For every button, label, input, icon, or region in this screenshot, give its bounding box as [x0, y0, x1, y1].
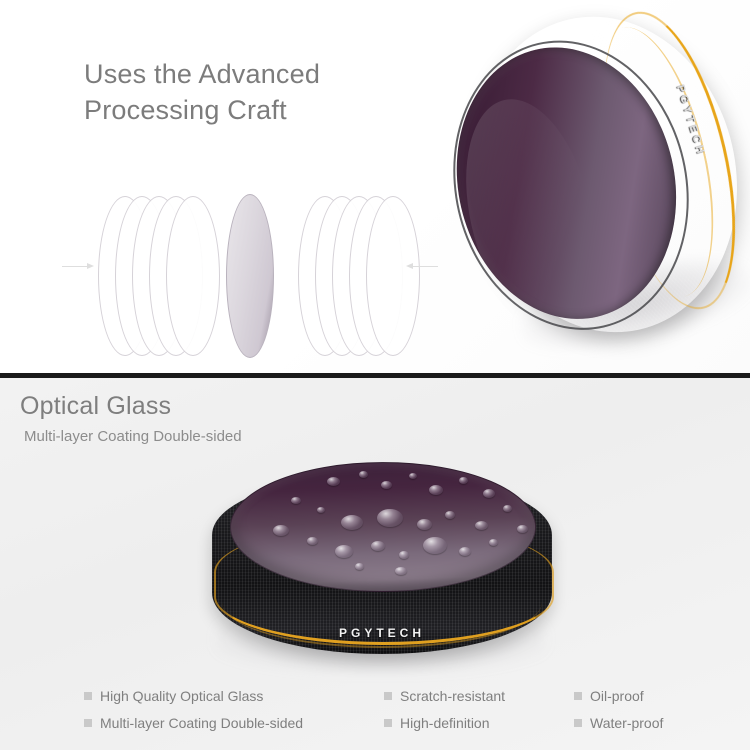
- water-droplet: [475, 521, 488, 530]
- water-droplet: [377, 509, 403, 527]
- bullet-icon: [574, 719, 582, 727]
- water-droplet: [371, 541, 385, 551]
- list-item: Oil-proof: [574, 688, 724, 704]
- feature-label: Water-proof: [590, 715, 663, 731]
- glass-highlight: [446, 87, 615, 340]
- water-droplet: [341, 515, 363, 530]
- page-title: Uses the Advanced Processing Craft: [84, 56, 320, 128]
- water-droplet: [489, 539, 498, 546]
- water-droplet: [291, 497, 301, 504]
- top-panel: Uses the Advanced Processing Craft: [0, 0, 750, 373]
- list-item: Multi-layer Coating Double-sided: [84, 715, 384, 731]
- water-droplet: [445, 511, 455, 519]
- water-droplet: [399, 551, 409, 559]
- arrow-left-icon: [412, 266, 438, 267]
- list-item: High Quality Optical Glass: [84, 688, 384, 704]
- multi-layer-coating-diagram: [50, 180, 450, 370]
- water-droplet: [417, 519, 432, 530]
- water-droplet: [381, 481, 392, 489]
- water-droplet: [409, 473, 417, 479]
- water-droplet: [483, 489, 495, 498]
- product-marketing-image: Uses the Advanced Processing Craft: [0, 0, 750, 750]
- filter-glass: [230, 462, 536, 592]
- water-droplet: [459, 477, 468, 484]
- water-droplet: [517, 525, 528, 533]
- list-item: High-definition: [384, 715, 574, 731]
- arrow-right-icon: [62, 266, 88, 267]
- water-droplet: [423, 537, 447, 554]
- list-item: Water-proof: [574, 715, 724, 731]
- water-droplet: [359, 471, 368, 478]
- water-droplet: [429, 485, 443, 495]
- water-droplet: [307, 537, 318, 545]
- bullet-icon: [84, 692, 92, 700]
- coating-layer: [366, 196, 420, 356]
- lens-filter-photo-top: PGYTECH: [429, 0, 750, 373]
- feature-label: Multi-layer Coating Double-sided: [100, 715, 303, 731]
- lens-filter-photo-bottom: PGYTECH: [196, 430, 568, 672]
- water-droplet: [335, 545, 353, 558]
- bullet-icon: [574, 692, 582, 700]
- water-droplet: [503, 505, 512, 512]
- water-droplet: [327, 477, 340, 486]
- bottom-panel: Optical Glass Multi-layer Coating Double…: [0, 378, 750, 750]
- section-title: Optical Glass: [20, 392, 171, 421]
- coating-layer: [166, 196, 220, 356]
- optical-glass-core: [226, 194, 274, 358]
- bullet-icon: [84, 719, 92, 727]
- bullet-icon: [384, 692, 392, 700]
- feature-label: Oil-proof: [590, 688, 644, 704]
- feature-label: High Quality Optical Glass: [100, 688, 263, 704]
- water-droplet: [317, 507, 325, 513]
- water-droplet: [395, 567, 407, 575]
- water-droplet: [459, 547, 471, 556]
- water-droplet: [355, 563, 364, 570]
- feature-label: Scratch-resistant: [400, 688, 505, 704]
- bullet-icon: [384, 719, 392, 727]
- feature-list: High Quality Optical Glass Scratch-resis…: [84, 688, 724, 731]
- feature-label: High-definition: [400, 715, 490, 731]
- brand-label: PGYTECH: [339, 626, 425, 640]
- water-droplet: [273, 525, 289, 536]
- list-item: Scratch-resistant: [384, 688, 574, 704]
